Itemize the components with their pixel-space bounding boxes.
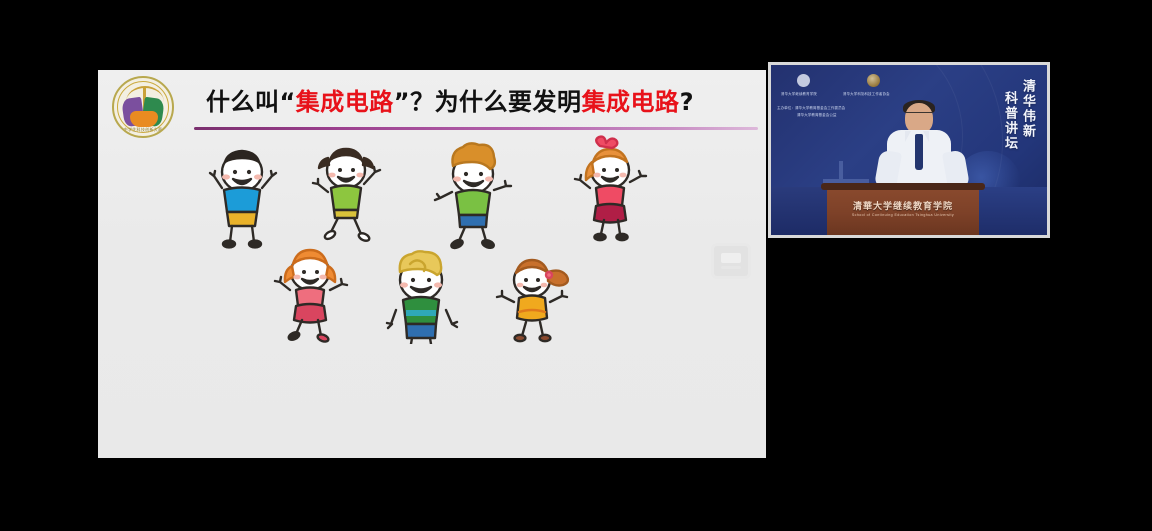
image-placeholder-icon: [714, 246, 748, 276]
podium-top: [821, 183, 985, 190]
child-4: [575, 137, 646, 241]
video-frame: 清华大学继续教育学院 清华大学科协科技工作者协会 主办单位：清华大学教育基金会工…: [771, 65, 1047, 235]
podium-label-en: School of Continuing Education Tsinghua …: [827, 213, 979, 217]
title-quote-open: “: [280, 88, 296, 116]
podium-label-cn: 清華大学继续教育学院: [827, 199, 979, 212]
title-question-2: ?: [680, 88, 694, 116]
placeholder-bar-top: [721, 253, 741, 263]
glasses-icon: [906, 112, 932, 119]
organizer-subtitle-line-2: 清华大学教育基金会公益: [797, 112, 837, 118]
slide-title-row: 什么叫“集成电路”？为什么要发明集成电路?: [98, 78, 766, 130]
speaker-video-panel[interactable]: 清华大学继续教育学院 清华大学科协科技工作者协会 主办单位：清华大学教育基金会工…: [768, 62, 1050, 238]
organizer-logo-left-text: 清华大学继续教育学院: [781, 91, 817, 96]
forum-title-line-2: 科普讲坛: [1001, 91, 1017, 151]
title-segment-2: 为什么要发明: [435, 88, 582, 116]
title-quote-close: ”: [394, 88, 410, 116]
child-2: [313, 149, 380, 242]
seven-cartoon-children-illustration: [194, 132, 674, 344]
title-highlight-1: 集成电路: [296, 88, 394, 116]
tsinghua-logo-icon: [797, 74, 810, 87]
placeholder-bar-bottom: [721, 266, 741, 269]
presentation-slide: 中学生科技创新大赛 什么叫“集成电路”？为什么要发明集成电路?: [98, 70, 766, 458]
child-3: [435, 143, 511, 249]
title-question-1: ？: [410, 88, 435, 116]
organizer-logo-right-text: 清华大学科协科技工作者协会: [843, 91, 890, 96]
child-6: [387, 251, 457, 344]
backdrop-right-block: [979, 187, 1047, 235]
title-segment-1: 什么叫: [206, 88, 280, 116]
child-5: [275, 250, 347, 343]
title-highlight-2: 集成电路: [582, 88, 680, 116]
presenter-collar-left: [905, 131, 911, 142]
backdrop-left-block: [771, 187, 829, 235]
screen-root: 中学生科技创新大赛 什么叫“集成电路”？为什么要发明集成电路?: [0, 0, 1152, 531]
podium: 清華大学继续教育学院 School of Continuing Educatio…: [827, 187, 979, 235]
association-logo-icon: [867, 74, 880, 87]
title-divider: [194, 127, 758, 130]
child-1: [210, 151, 276, 247]
child-7: [497, 260, 568, 341]
page-title: 什么叫“集成电路”？为什么要发明集成电路?: [206, 86, 746, 118]
presenter-collar-right: [923, 131, 929, 142]
forum-title-line-1: 清华伟新: [1019, 79, 1035, 139]
organizer-subtitle-line-1: 主办单位：清华大学教育基金会工作委员会: [777, 105, 845, 111]
presenter-tie: [915, 134, 923, 170]
